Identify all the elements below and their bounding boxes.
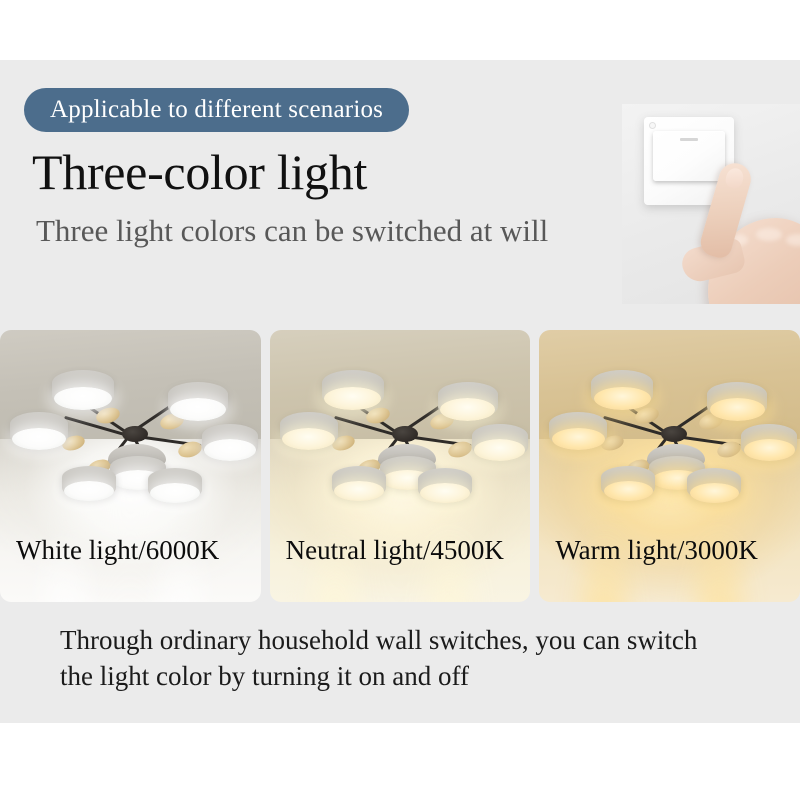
lamp-diffuser bbox=[690, 483, 740, 503]
panel-label: White light/6000K bbox=[16, 534, 219, 566]
lamp-diffuser bbox=[204, 439, 256, 461]
lamp-diffuser bbox=[474, 439, 526, 461]
light-panel-neutral[interactable]: Neutral light/4500K bbox=[270, 330, 531, 602]
page-title: Three-color light bbox=[32, 141, 367, 203]
lamp-head bbox=[591, 370, 653, 408]
lamp-diffuser bbox=[604, 481, 654, 501]
lamp-hub bbox=[122, 426, 148, 442]
caption-line-1: Through ordinary household wall switches… bbox=[60, 622, 760, 658]
lamp-diffuser bbox=[54, 387, 111, 411]
light-panel-warm[interactable]: Warm light/3000K bbox=[539, 330, 800, 602]
lamp-hub bbox=[392, 426, 418, 442]
lamp-head bbox=[148, 468, 202, 501]
knuckle-highlight bbox=[756, 228, 782, 241]
lamp-head bbox=[62, 466, 116, 499]
lamp-diffuser bbox=[552, 428, 605, 450]
caption-line-2: the light color by turning it on and off bbox=[60, 658, 760, 694]
lamp-diffuser bbox=[170, 398, 225, 421]
brand-mark-icon bbox=[680, 138, 698, 141]
lamp-diffuser bbox=[334, 481, 384, 501]
lamp-diffuser bbox=[710, 398, 765, 421]
lamp-head bbox=[438, 382, 498, 419]
light-color-panels: White light/6000K bbox=[0, 330, 800, 602]
light-panel-white[interactable]: White light/6000K bbox=[0, 330, 261, 602]
product-feature-page: Applicable to different scenarios Three-… bbox=[0, 0, 800, 800]
knuckle-highlight bbox=[786, 234, 800, 246]
ceiling-lamp-fixture bbox=[539, 352, 800, 492]
lamp-head bbox=[472, 424, 528, 459]
lamp-head bbox=[601, 466, 655, 499]
lamp-head bbox=[280, 412, 338, 448]
panel-label: Warm light/3000K bbox=[555, 534, 758, 566]
page-subtitle: Three light colors can be switched at wi… bbox=[36, 210, 548, 252]
lamp-head bbox=[418, 468, 472, 501]
lamp-head bbox=[168, 382, 228, 419]
lamp-diffuser bbox=[744, 439, 796, 461]
lamp-diffuser bbox=[420, 483, 470, 503]
panel-label: Neutral light/4500K bbox=[286, 534, 504, 566]
lamp-head bbox=[332, 466, 386, 499]
lamp-head bbox=[10, 412, 68, 448]
lamp-diffuser bbox=[12, 428, 65, 450]
lamp-diffuser bbox=[64, 481, 114, 501]
lamp-head bbox=[741, 424, 797, 459]
bottom-caption: Through ordinary household wall switches… bbox=[60, 622, 760, 694]
lamp-diffuser bbox=[324, 387, 381, 411]
lamp-head bbox=[707, 382, 767, 419]
lamp-diffuser bbox=[594, 387, 651, 411]
screw-icon bbox=[649, 122, 656, 129]
lamp-diffuser bbox=[150, 483, 200, 503]
pressing-hand bbox=[662, 156, 800, 304]
lamp-diffuser bbox=[440, 398, 495, 421]
ceiling-lamp-fixture bbox=[270, 352, 531, 492]
lamp-head bbox=[52, 370, 114, 408]
lamp-head bbox=[549, 412, 607, 448]
lamp-diffuser bbox=[282, 428, 335, 450]
scenario-badge: Applicable to different scenarios bbox=[24, 88, 409, 132]
wall-switch-photo bbox=[622, 104, 800, 304]
lamp-head bbox=[322, 370, 384, 408]
fingernail bbox=[724, 166, 746, 190]
ceiling-lamp-fixture bbox=[0, 352, 261, 492]
lamp-hub bbox=[661, 426, 687, 442]
lamp-head bbox=[687, 468, 741, 501]
lamp-head bbox=[202, 424, 258, 459]
